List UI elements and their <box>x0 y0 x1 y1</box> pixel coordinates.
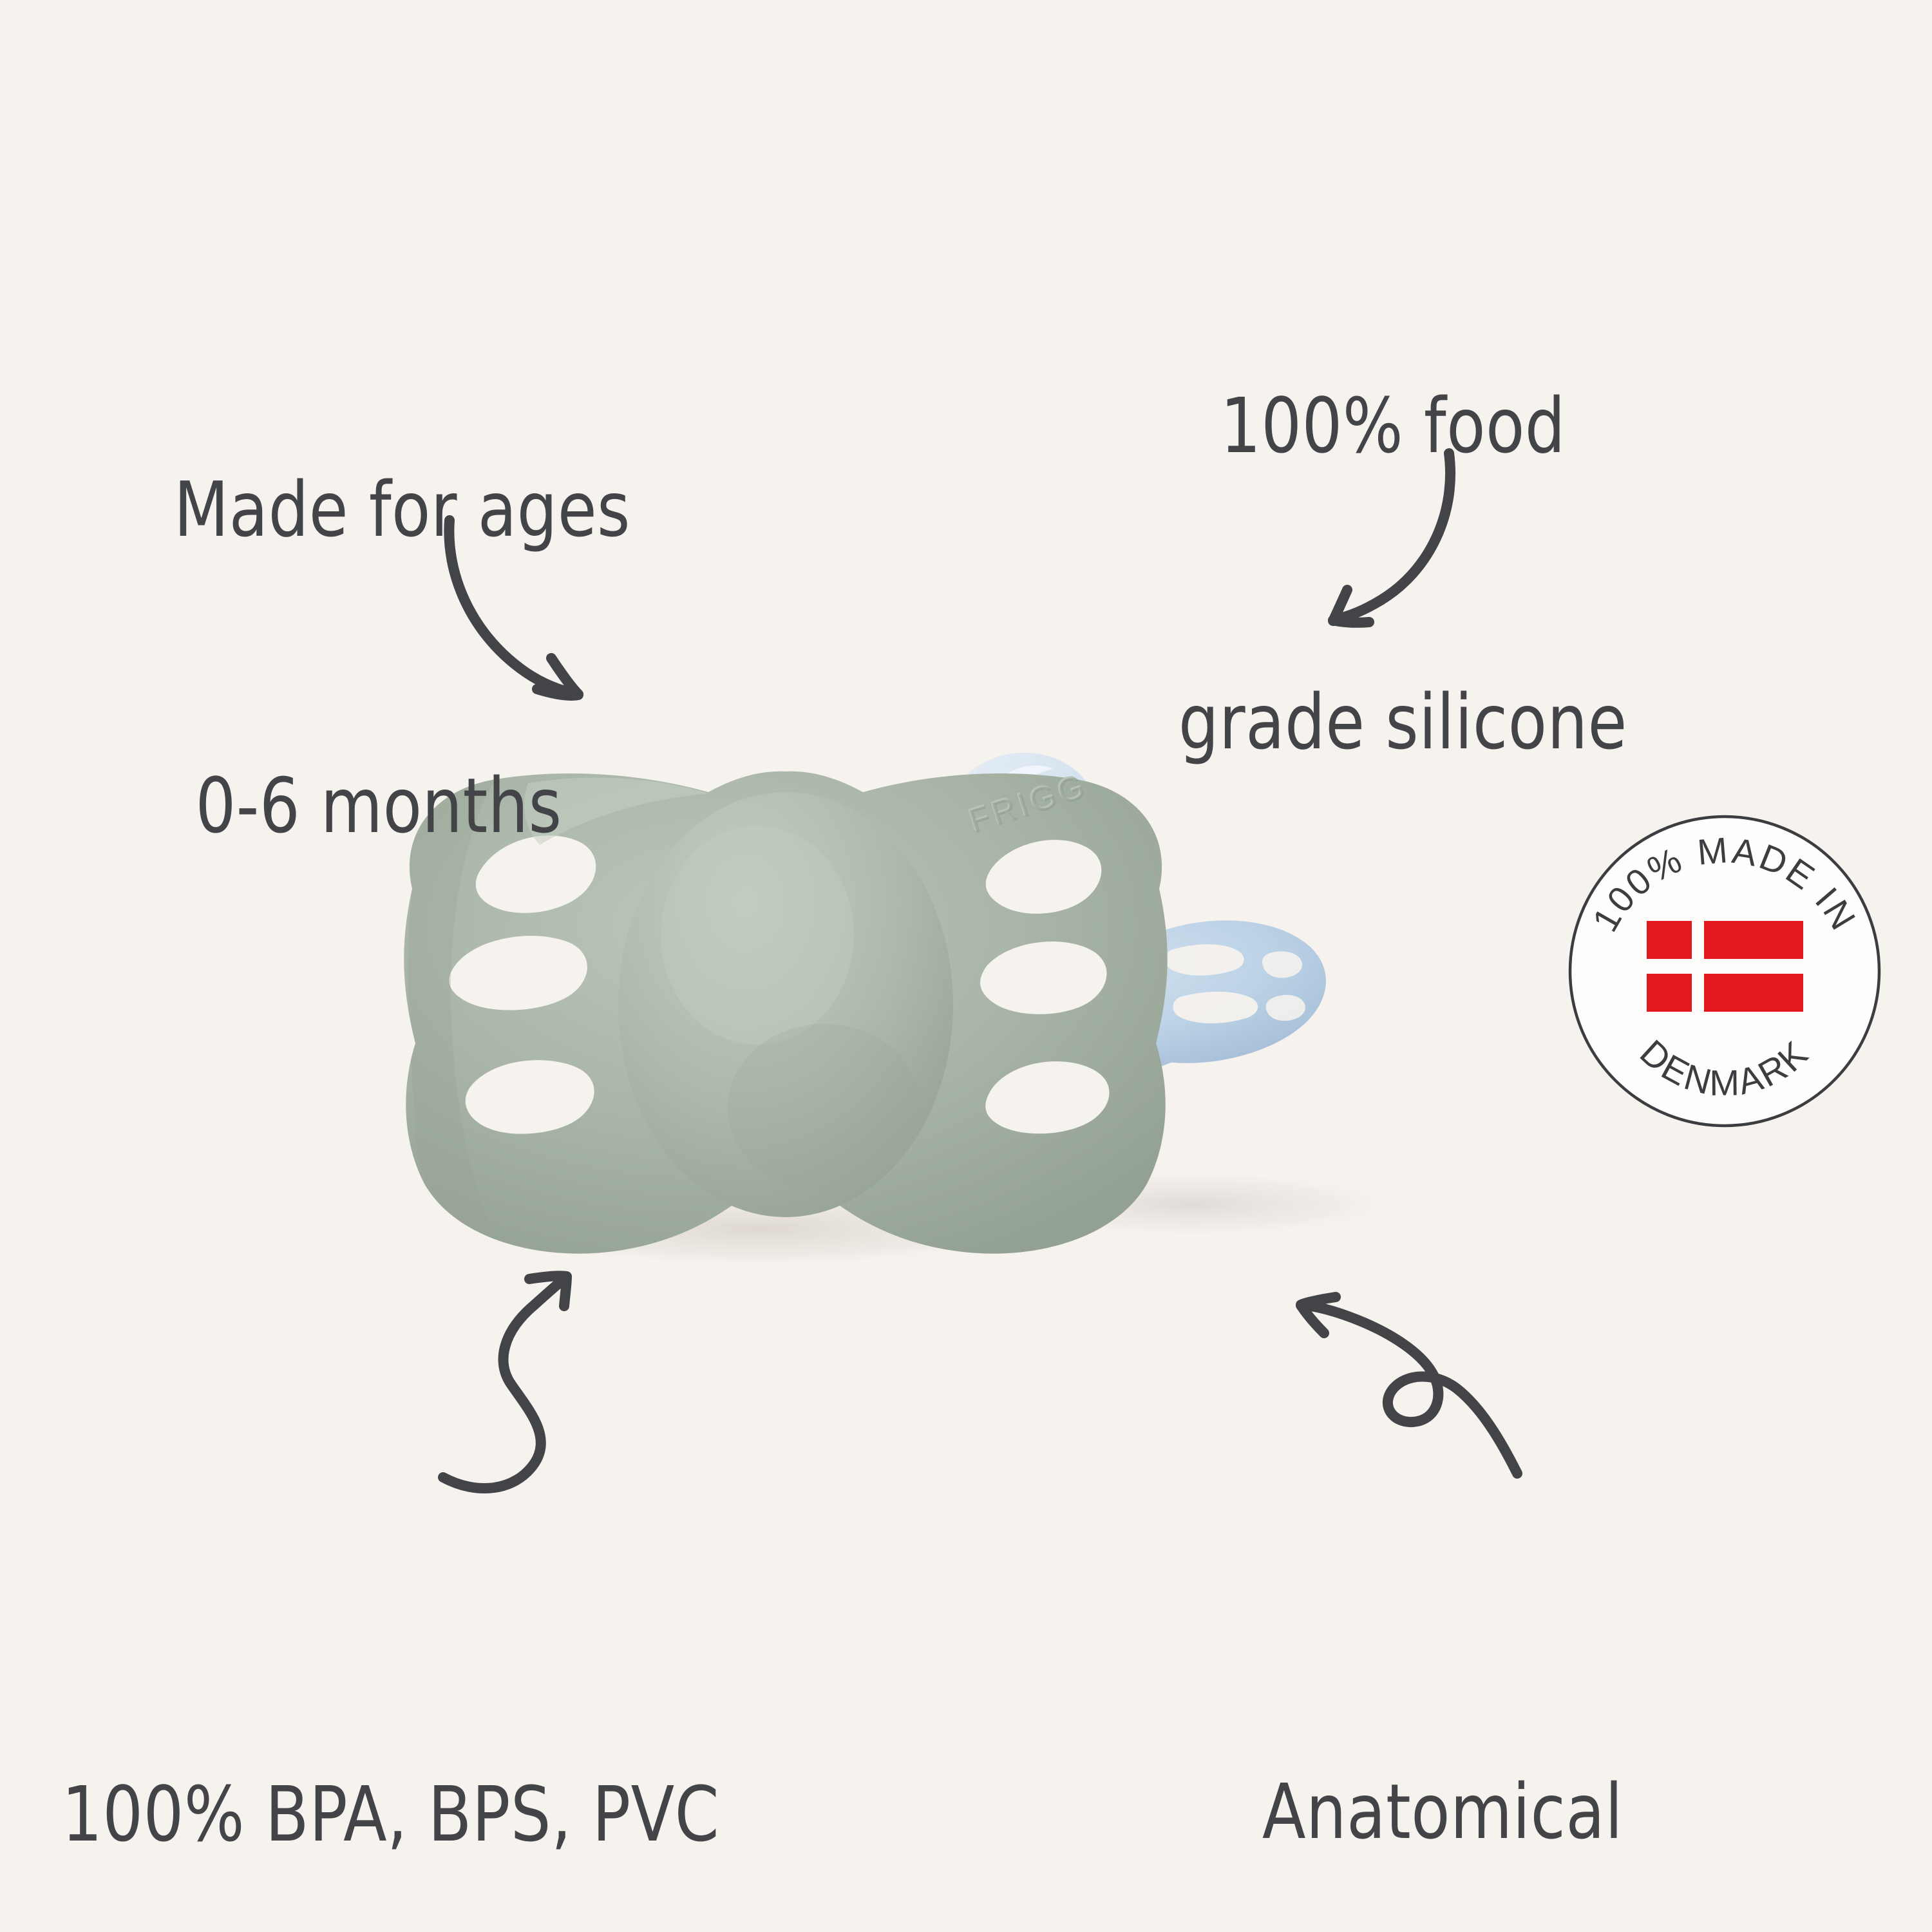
infographic-canvas: FRIGG FRIGG Made for ages 0-6 months 100… <box>0 0 1932 1932</box>
callout-line: 0-6 months <box>195 757 630 855</box>
made-in-denmark-badge: 100% MADE IN DENMARK <box>1566 813 1883 1130</box>
arrow-down-left-icon <box>1314 431 1584 676</box>
callout-line: 100% BPA, BPS, PVC <box>62 1765 719 1864</box>
callout-line: Anatomical <box>1262 1763 1662 1861</box>
arrow-up-right-s-curve-icon <box>431 1256 676 1533</box>
callout-bpa-free: 100% BPA, BPS, PVC + Phthalates free <box>62 1567 719 1932</box>
callout-anatomical-nipple: Anatomical nipple shape <box>1262 1565 1662 1932</box>
arrow-down-right-icon <box>399 496 676 741</box>
callout-line: grade silicone <box>1179 673 1627 772</box>
arrow-up-left-looped-icon <box>1269 1269 1558 1546</box>
